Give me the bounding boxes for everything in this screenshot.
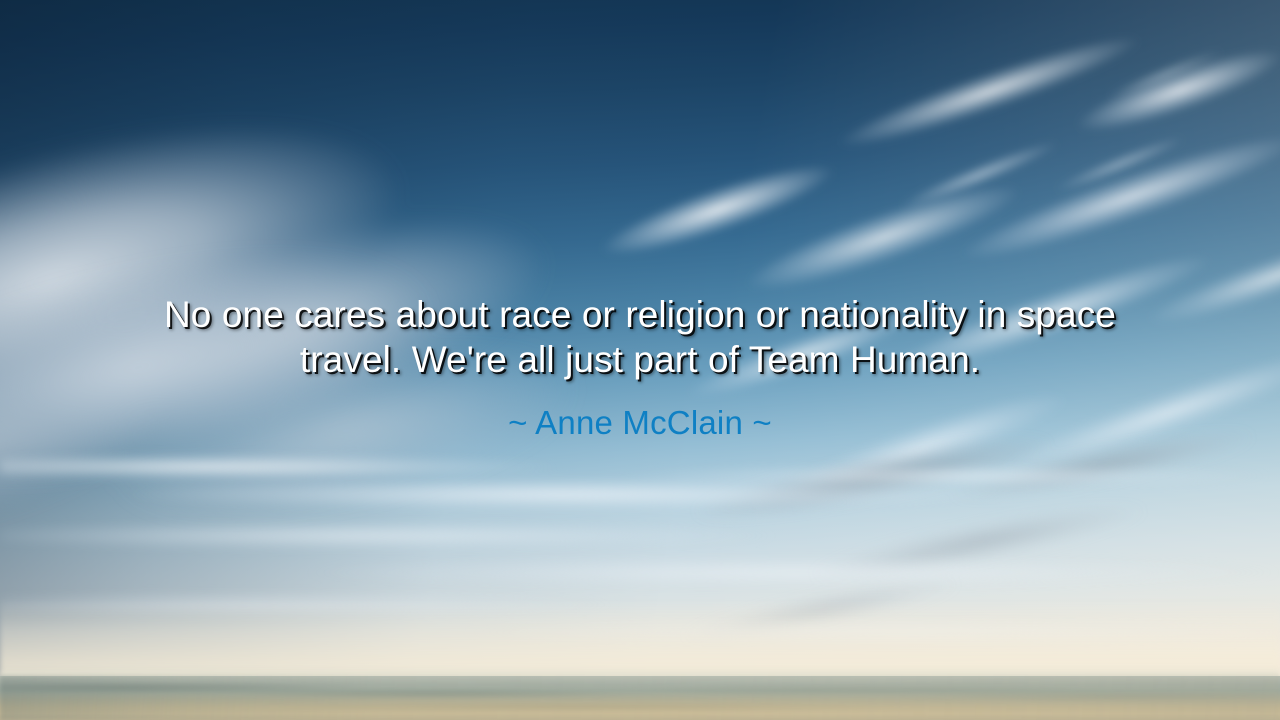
quote-image-card: No one cares about race or religion or n… [0, 0, 1280, 720]
quote-overlay: No one cares about race or religion or n… [0, 0, 1280, 720]
quote-author: ~ Anne McClain ~ [508, 404, 772, 442]
quote-text: No one cares about race or religion or n… [120, 292, 1160, 382]
